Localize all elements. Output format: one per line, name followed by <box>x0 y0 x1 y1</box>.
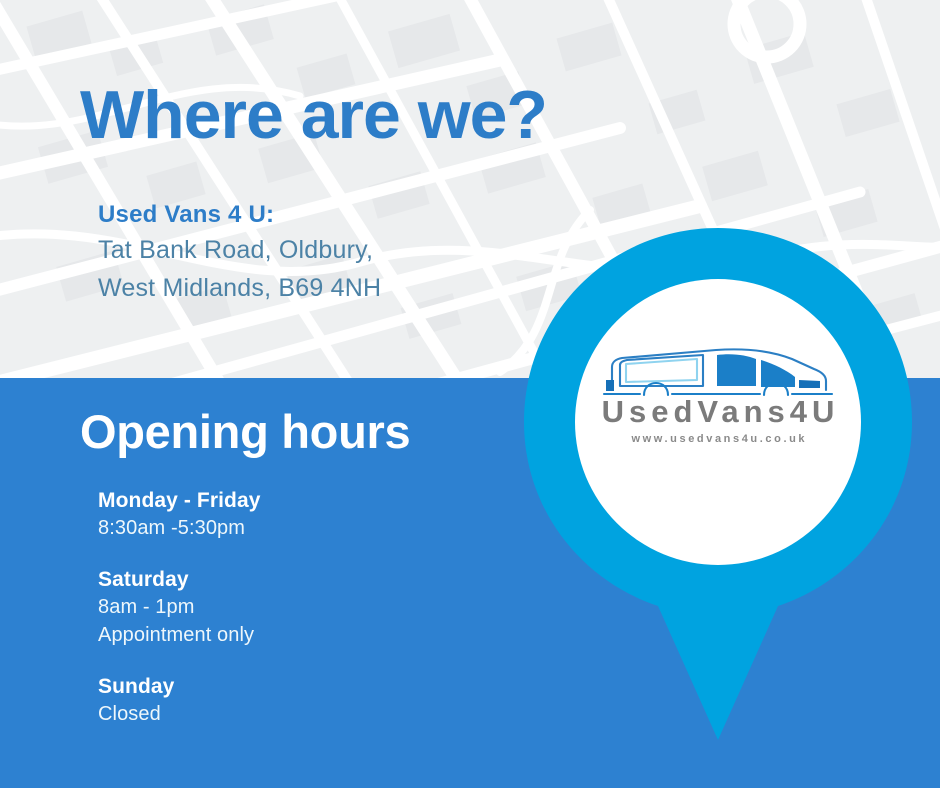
logo-wordmark: UsedVans4U <box>596 396 840 427</box>
opening-hours-list: Monday - Friday 8:30am -5:30pm Saturday … <box>98 487 498 729</box>
hours-group-weekday: Monday - Friday 8:30am -5:30pm <box>98 487 498 542</box>
address-line-1: Tat Bank Road, Oldbury, <box>98 232 381 270</box>
hours-group-saturday: Saturday 8am - 1pm Appointment only <box>98 566 498 649</box>
address-block: Used Vans 4 U: Tat Bank Road, Oldbury, W… <box>98 198 381 307</box>
van-icon <box>596 340 840 402</box>
opening-hours-title: Opening hours <box>80 404 410 459</box>
hours-note: Appointment only <box>98 622 498 650</box>
map-pin: UsedVans4U www.usedvans4u.co.uk <box>518 222 918 746</box>
hours-day-label: Monday - Friday <box>98 487 498 515</box>
business-name: Used Vans 4 U: <box>98 198 381 232</box>
poster: Where are we? Used Vans 4 U: Tat Bank Ro… <box>0 0 940 788</box>
hours-time-value: Closed <box>98 701 498 729</box>
map-pin-icon <box>518 222 918 746</box>
page-title: Where are we? <box>80 80 547 151</box>
hours-day-label: Saturday <box>98 566 498 594</box>
hours-day-label: Sunday <box>98 673 498 701</box>
logo-website-url: www.usedvans4u.co.uk <box>596 434 840 445</box>
hours-time-value: 8am - 1pm <box>98 594 498 622</box>
hours-time-value: 8:30am -5:30pm <box>98 515 498 543</box>
company-logo: UsedVans4U www.usedvans4u.co.uk <box>596 340 840 462</box>
hours-group-sunday: Sunday Closed <box>98 673 498 728</box>
address-line-2: West Midlands, B69 4NH <box>98 270 381 308</box>
